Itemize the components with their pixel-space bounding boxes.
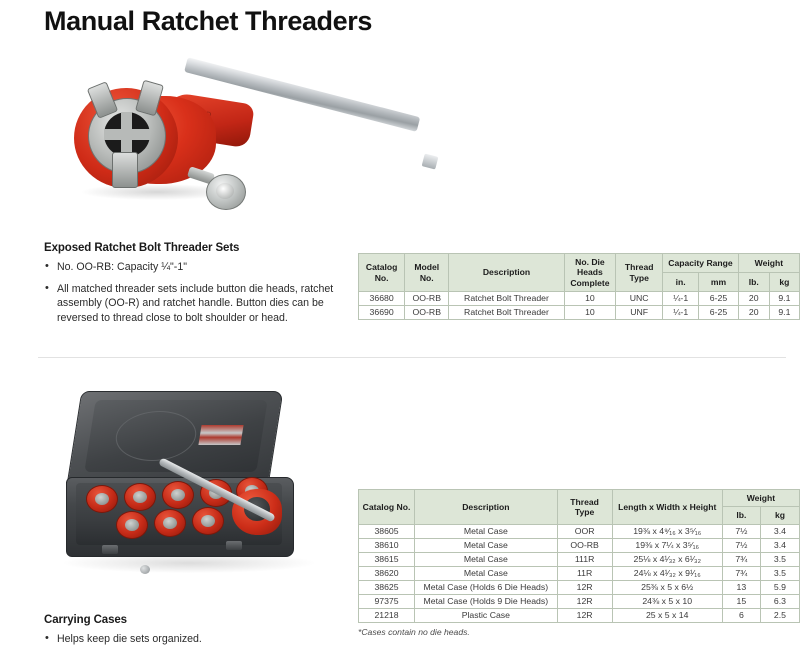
specification-table: Catalog No. Model No. Description No. Di… [358, 253, 800, 320]
cell-weight-kg: 6.3 [760, 594, 799, 608]
cell-weight-kg: 3.4 [760, 524, 799, 538]
cell-catalog-no: 36690 [359, 306, 405, 320]
cell-die-heads: 10 [564, 306, 615, 320]
cell-dimensions: 24⅛ x 4¹⁄₃₂ x 9¹⁄₁₆ [612, 566, 722, 580]
ratchet-handle-tip-shape [422, 153, 439, 169]
subcol-weight-kg: kg [769, 273, 799, 292]
cell-weight-lb: 7¾ [722, 552, 760, 566]
cell-weight-lb: 7½ [722, 538, 760, 552]
die-jaw-shape [112, 152, 138, 188]
cell-catalog-no: 38620 [359, 566, 415, 580]
table-row: 38605 Metal Case OOR 19⅜ x 4⁹⁄₁₆ x 3⁵⁄₁₆… [359, 524, 800, 538]
die-head-shape [162, 481, 194, 509]
carrying-cases-table-wrap: Catalog No. Description Thread Type Leng… [358, 489, 800, 637]
die-cross-vertical-shape [121, 112, 132, 157]
table-header-row: Catalog No. Model No. Description No. Di… [359, 254, 800, 273]
subcol-capacity-mm: mm [699, 273, 739, 292]
cell-catalog-no: 38605 [359, 524, 415, 538]
table-row: 38610 Metal Case OO-RB 19⅜ x 7¼ x 3⁵⁄₁₆ … [359, 538, 800, 552]
cell-thread-type: 12R [557, 608, 612, 622]
cell-weight-kg: 3.5 [760, 552, 799, 566]
col-catalog-no: Catalog No. [359, 254, 405, 292]
col-description: Description [415, 490, 558, 525]
cell-thread-type: 12R [557, 580, 612, 594]
carrying-cases-copy: Carrying Cases Helps keep die sets organ… [44, 614, 344, 647]
ratchet-handle-cap-shape [140, 565, 150, 574]
section-heading: Carrying Cases [44, 614, 344, 626]
col-model-no: Model No. [405, 254, 449, 292]
table-row: 38615 Metal Case 111R 25⅛ x 4¹⁄₃₂ x 6¹⁄₃… [359, 552, 800, 566]
cell-model-no: OO-RB [405, 306, 449, 320]
table-row: 36690 OO-RB Ratchet Bolt Threader 10 UNF… [359, 306, 800, 320]
col-thread-type: Thread Type [616, 254, 663, 292]
table-footnote: *Cases contain no die heads. [358, 627, 800, 637]
cell-weight-lb: 15 [722, 594, 760, 608]
cell-catalog-no: 21218 [359, 608, 415, 622]
subcol-capacity-in: in. [663, 273, 699, 292]
die-head-shape [124, 483, 156, 511]
case-latch-shape [102, 545, 118, 554]
cell-weight-lb: 13 [722, 580, 760, 594]
col-weight: Weight [738, 254, 799, 273]
cell-model-no: OO-RB [405, 292, 449, 306]
cell-weight-lb: 6 [722, 608, 760, 622]
cell-dimensions: 19⅜ x 4⁹⁄₁₆ x 3⁵⁄₁₆ [612, 524, 722, 538]
cell-dimensions: 19⅜ x 7¼ x 3⁵⁄₁₆ [612, 538, 722, 552]
table-row: 36680 OO-RB Ratchet Bolt Threader 10 UNC… [359, 292, 800, 306]
cell-weight-lb: 20 [738, 306, 769, 320]
cell-description: Metal Case [415, 524, 558, 538]
subcol-weight-lb: lb. [738, 273, 769, 292]
specification-table: Catalog No. Description Thread Type Leng… [358, 489, 800, 623]
case-latch-shape [226, 541, 242, 550]
die-head-shape [192, 507, 224, 535]
cell-catalog-no: 97375 [359, 594, 415, 608]
cell-weight-kg: 3.5 [760, 566, 799, 580]
cell-weight-kg: 9.1 [769, 306, 799, 320]
cell-catalog-no: 36680 [359, 292, 405, 306]
cell-description: Metal Case [415, 566, 558, 580]
table-row: 38620 Metal Case 11R 24⅛ x 4¹⁄₃₂ x 9¹⁄₁₆… [359, 566, 800, 580]
table-body: 38605 Metal Case OOR 19⅜ x 4⁹⁄₁₆ x 3⁵⁄₁₆… [359, 524, 800, 622]
die-head-shape [116, 511, 148, 539]
col-capacity-range: Capacity Range [663, 254, 739, 273]
subcol-weight-lb: lb. [722, 507, 760, 524]
col-description: Description [449, 254, 564, 292]
cell-thread-type: OO-RB [557, 538, 612, 552]
cell-description: Metal Case (Holds 9 Die Heads) [415, 594, 558, 608]
page-title: Manual Ratchet Threaders [44, 6, 372, 37]
cell-weight-lb: 7¾ [722, 566, 760, 580]
cell-description: Metal Case (Holds 6 Die Heads) [415, 580, 558, 594]
exposed-ratchet-bolt-threader-table-wrap: Catalog No. Model No. Description No. Di… [358, 253, 800, 320]
cell-dimensions: 24⅜ x 5 x 10 [612, 594, 722, 608]
cell-weight-lb: 20 [738, 292, 769, 306]
die-head-shape [86, 485, 118, 513]
cell-dimensions: 25⅛ x 4¹⁄₃₂ x 6¹⁄₃₂ [612, 552, 722, 566]
cell-thread-type: 111R [557, 552, 612, 566]
cell-weight-kg: 3.4 [760, 538, 799, 552]
cell-thread-type: UNC [616, 292, 663, 306]
list-item: All matched threader sets include button… [44, 282, 344, 326]
cell-capacity-in: ¼-1 [663, 292, 699, 306]
col-die-heads: No. Die Heads Complete [564, 254, 615, 292]
cell-thread-type: 12R [557, 594, 612, 608]
list-item: No. OO-RB: Capacity ¼"-1" [44, 260, 344, 275]
cell-capacity-mm: 6-25 [699, 292, 739, 306]
col-weight: Weight [722, 490, 799, 507]
cell-thread-type: OOR [557, 524, 612, 538]
col-thread-type: Thread Type [557, 490, 612, 525]
cell-catalog-no: 38625 [359, 580, 415, 594]
cell-dimensions: 25⅜ x 5 x 6½ [612, 580, 722, 594]
cell-thread-type: 11R [557, 566, 612, 580]
cell-weight-kg: 5.9 [760, 580, 799, 594]
cell-capacity-in: ¼-1 [663, 306, 699, 320]
section-divider [38, 357, 786, 358]
exposed-ratchet-bolt-threader-copy: Exposed Ratchet Bolt Threader Sets No. O… [44, 242, 344, 325]
exposed-ratchet-bolt-threader-photo: RIDGID [38, 52, 458, 212]
table-row: 38625 Metal Case (Holds 6 Die Heads) 12R… [359, 580, 800, 594]
die-head-shape [154, 509, 186, 537]
subcol-weight-kg: kg [760, 507, 799, 524]
col-catalog-no: Catalog No. [359, 490, 415, 525]
cell-die-heads: 10 [564, 292, 615, 306]
feature-list: No. OO-RB: Capacity ¼"-1" All matched th… [44, 260, 344, 325]
cell-description: Metal Case [415, 538, 558, 552]
table-row: 97375 Metal Case (Holds 9 Die Heads) 12R… [359, 594, 800, 608]
cell-description: Ratchet Bolt Threader [449, 292, 564, 306]
cell-weight-kg: 9.1 [769, 292, 799, 306]
feature-list: Helps keep die sets organized. [44, 632, 344, 647]
cell-description: Metal Case [415, 552, 558, 566]
table-header-row: Catalog No. Description Thread Type Leng… [359, 490, 800, 507]
col-dimensions: Length x Width x Height [612, 490, 722, 525]
cell-weight-lb: 7½ [722, 524, 760, 538]
section-heading: Exposed Ratchet Bolt Threader Sets [44, 242, 344, 254]
table-row: 21218 Plastic Case 12R 25 x 5 x 14 6 2.5 [359, 608, 800, 622]
cell-catalog-no: 38610 [359, 538, 415, 552]
cell-thread-type: UNF [616, 306, 663, 320]
cell-dimensions: 25 x 5 x 14 [612, 608, 722, 622]
case-warning-label-shape [198, 425, 243, 445]
list-item: Helps keep die sets organized. [44, 632, 344, 647]
carrying-case-photo [50, 385, 330, 585]
cell-weight-kg: 2.5 [760, 608, 799, 622]
cell-capacity-mm: 6-25 [699, 306, 739, 320]
cell-description: Ratchet Bolt Threader [449, 306, 564, 320]
cell-description: Plastic Case [415, 608, 558, 622]
cell-catalog-no: 38615 [359, 552, 415, 566]
adjust-knob-core-shape [216, 183, 234, 199]
